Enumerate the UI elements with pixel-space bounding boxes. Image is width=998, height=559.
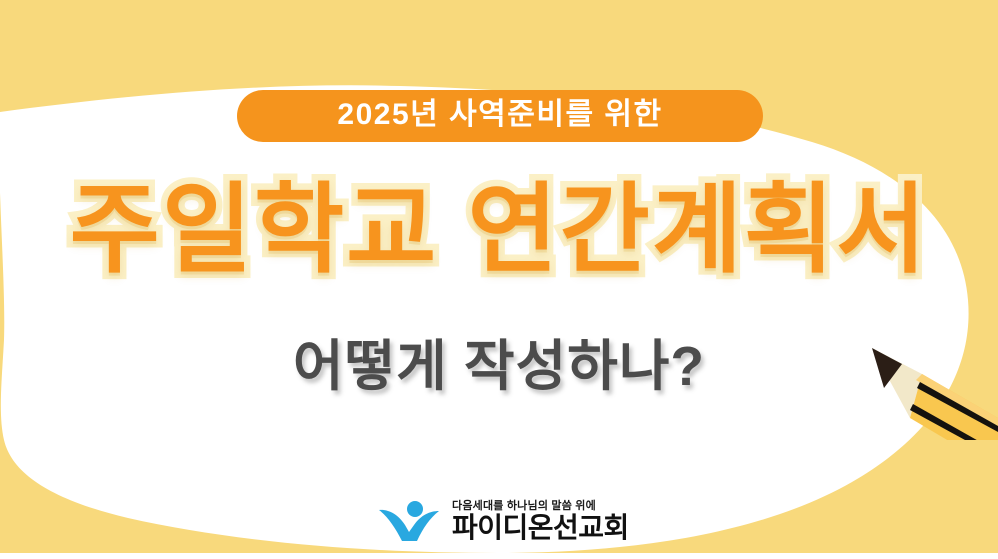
badge-label: 2025년 사역준비를 위한 bbox=[337, 100, 662, 130]
page-subtitle: 어떻게 작성하나? bbox=[293, 339, 705, 394]
paidion-logo-icon bbox=[378, 500, 440, 542]
logo-text-block: 다음세대를 하나님의 말씀 위에 파이디온선교회 bbox=[452, 500, 629, 541]
eyebrow-badge: 2025년 사역준비를 위한 bbox=[237, 90, 763, 142]
main-title-container: 주일학교 연간계획서 bbox=[0, 168, 998, 290]
logo-tagline: 다음세대를 하나님의 말씀 위에 bbox=[452, 500, 629, 512]
subtitle-container: 어떻게 작성하나? bbox=[0, 330, 998, 402]
bottom-white-strip bbox=[0, 553, 998, 559]
pencil-icon bbox=[858, 330, 998, 440]
logo-organization-name: 파이디온선교회 bbox=[452, 514, 629, 542]
organization-logo: 다음세대를 하나님의 말씀 위에 파이디온선교회 bbox=[378, 495, 640, 547]
slide-canvas: 2025년 사역준비를 위한 주일학교 연간계획서 어떻게 작성하나? 다음세대… bbox=[0, 0, 998, 559]
page-title: 주일학교 연간계획서 bbox=[70, 180, 929, 278]
